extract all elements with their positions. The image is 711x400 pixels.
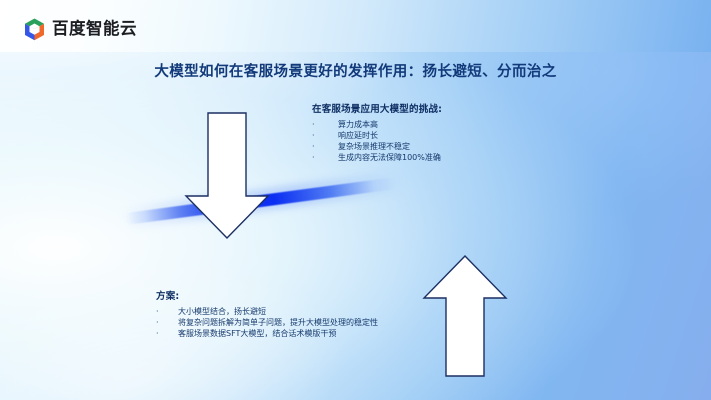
- list-item: · 客服场景数据SFT大模型，结合话术模版干预: [156, 328, 378, 339]
- bullet-glyph: ·: [156, 317, 178, 328]
- list-item-label: 复杂场景推理不稳定: [338, 141, 410, 152]
- page-title: 大模型如何在客服场景更好的发挥作用：扬长避短、分而治之: [0, 60, 711, 81]
- brand-lockup: 百度智能云: [24, 18, 137, 41]
- bullet-glyph: ·: [156, 328, 178, 339]
- solution-list: · 大小模型结合，扬长避短 · 将复杂问题拆解为简单子问题，提升大模型处理的稳定…: [156, 306, 378, 339]
- list-item-label: 客服场景数据SFT大模型，结合话术模版干预: [178, 328, 336, 339]
- arrow-up-icon: [422, 255, 508, 377]
- list-item-label: 响应延时长: [338, 130, 378, 141]
- slide-header: 百度智能云: [0, 0, 711, 52]
- list-item-label: 生成内容无法保障100%准确: [338, 152, 441, 163]
- list-item: · 复杂场景推理不稳定: [312, 141, 442, 152]
- arrow-down-icon: [184, 112, 270, 240]
- list-item-label: 算力成本高: [338, 119, 378, 130]
- solution-heading: 方案:: [156, 288, 378, 302]
- bullet-glyph: ·: [156, 306, 178, 317]
- challenges-list: · 算力成本高 · 响应延时长 · 复杂场景推理不稳定 · 生成内容无法保障10…: [312, 119, 442, 163]
- solution-block: 方案: · 大小模型结合，扬长避短 · 将复杂问题拆解为简单子问题，提升大模型处…: [156, 288, 378, 339]
- list-item: · 大小模型结合，扬长避短: [156, 306, 378, 317]
- list-item-label: 大小模型结合，扬长避短: [178, 306, 266, 317]
- list-item: · 生成内容无法保障100%准确: [312, 152, 442, 163]
- challenges-block: 在客服场景应用大模型的挑战: · 算力成本高 · 响应延时长 · 复杂场景推理不…: [312, 101, 442, 163]
- list-item-label: 将复杂问题拆解为简单子问题，提升大模型处理的稳定性: [178, 317, 378, 328]
- brand-name: 百度智能云: [52, 21, 137, 38]
- baidu-cloud-cube-logo-icon: [24, 18, 45, 41]
- challenges-heading: 在客服场景应用大模型的挑战:: [312, 101, 442, 115]
- bullet-glyph: ·: [312, 141, 338, 152]
- slide-canvas: 百度智能云 大模型如何在客服场景更好的发挥作用：扬长避短、分而治之 在客服场景应…: [0, 0, 711, 400]
- list-item: · 响应延时长: [312, 130, 442, 141]
- bullet-glyph: ·: [312, 152, 338, 163]
- list-item: · 算力成本高: [312, 119, 442, 130]
- bullet-glyph: ·: [312, 130, 338, 141]
- list-item: · 将复杂问题拆解为简单子问题，提升大模型处理的稳定性: [156, 317, 378, 328]
- bullet-glyph: ·: [312, 119, 338, 130]
